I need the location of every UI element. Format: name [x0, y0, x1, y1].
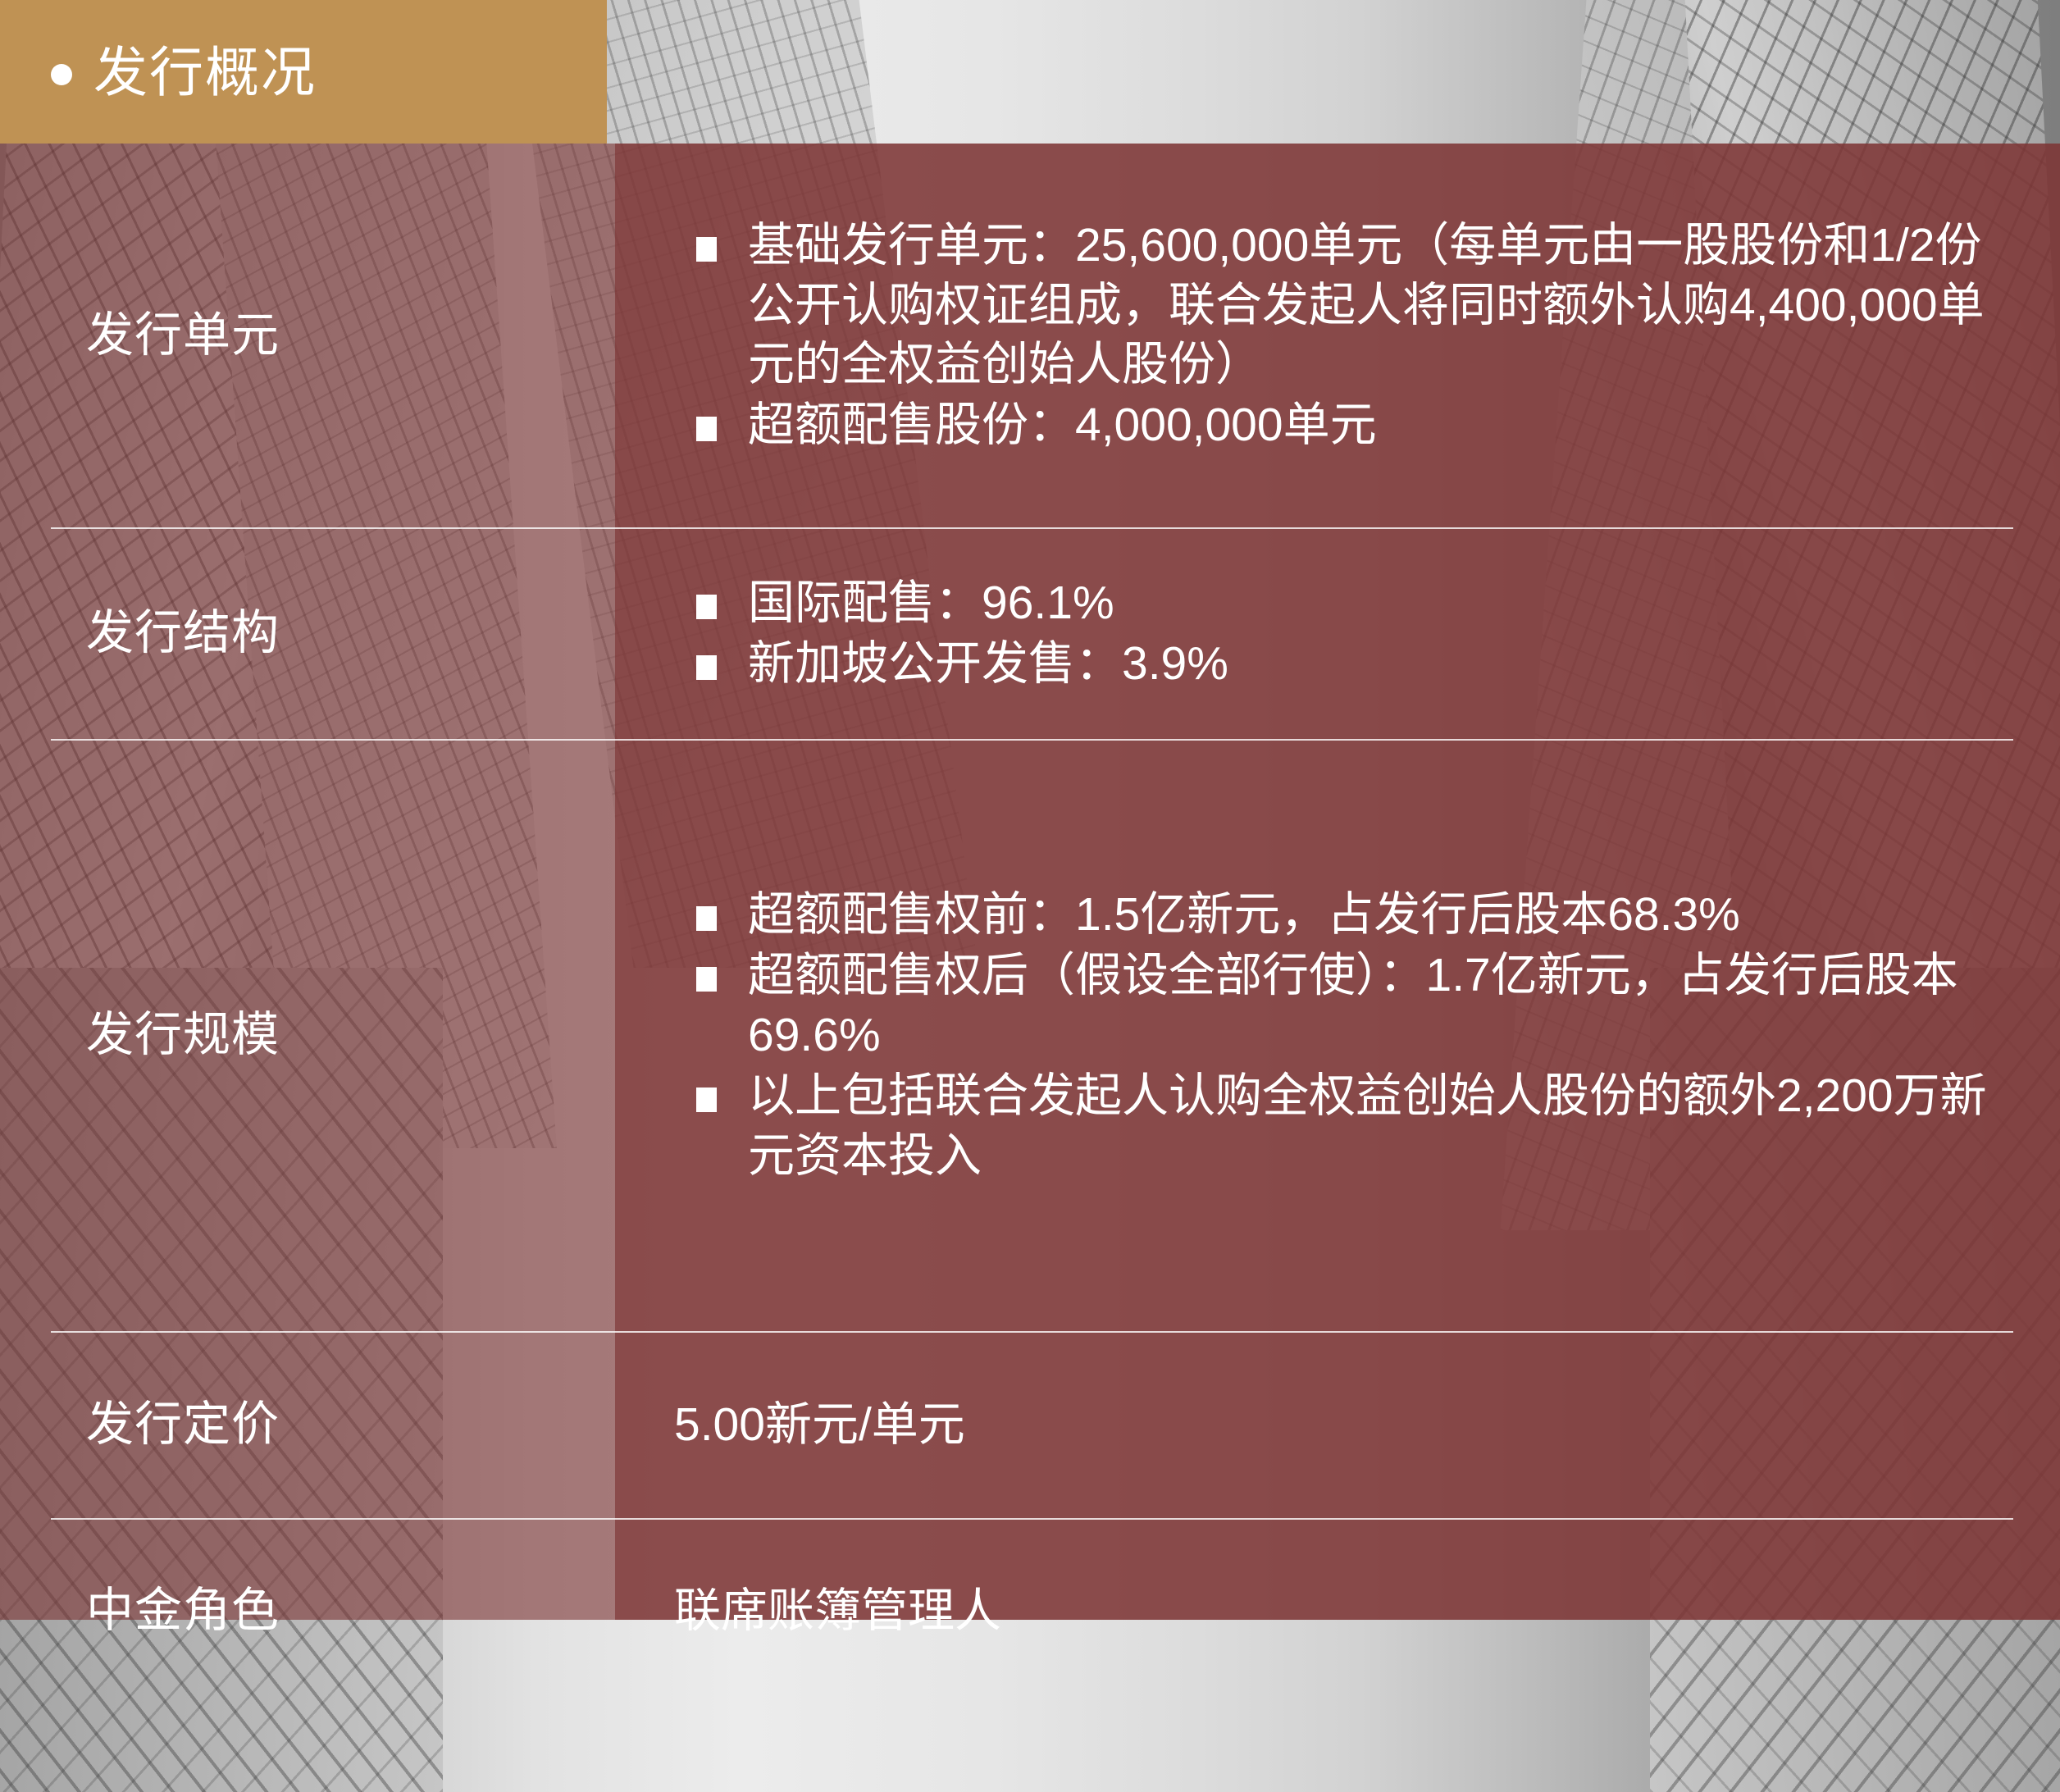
square-bullet-icon — [696, 906, 717, 931]
list-item-text: 以上包括联合发起人认购全权益创始人股份的额外2,200万新元资本投入 — [748, 1069, 1987, 1181]
square-bullet-icon — [696, 417, 717, 441]
row-label: 中金角色 — [0, 1584, 615, 1639]
table-row: 发行规模 超额配售权前：1.5亿新元，占发行后股本68.3% 超额配售权后（假设… — [0, 739, 2060, 1331]
row-label: 发行单元 — [0, 308, 615, 363]
row-value: 基础发行单元：25,600,000单元（每单元由一股股份和1/2份公开认购权证组… — [615, 216, 2060, 455]
square-bullet-icon — [696, 595, 717, 619]
table-row: 发行定价 5.00新元/单元 — [0, 1331, 2060, 1518]
slide-title-bar: 发行概况 — [0, 0, 607, 144]
square-bullet-icon — [696, 1088, 717, 1112]
row-value: 国际配售：96.1% 新加坡公开发售：3.9% — [615, 573, 2060, 694]
list-item: 基础发行单元：25,600,000单元（每单元由一股股份和1/2份公开认购权证组… — [674, 216, 2003, 394]
row-divider — [51, 1331, 2013, 1333]
table-row: 发行单元 基础发行单元：25,600,000单元（每单元由一股股份和1/2份公开… — [0, 144, 2060, 527]
page-title: 发行概况 — [93, 45, 317, 99]
list-item-text: 超额配售股份：4,000,000单元 — [748, 399, 1377, 451]
square-bullet-icon — [696, 237, 717, 262]
bullet-list: 超额配售权前：1.5亿新元，占发行后股本68.3% 超额配售权后（假设全部行使）… — [674, 885, 2003, 1185]
list-item: 国际配售：96.1% — [674, 573, 2003, 632]
row-value-text: 联席账簿管理人 — [674, 1581, 2003, 1640]
bullet-list: 国际配售：96.1% 新加坡公开发售：3.9% — [674, 573, 2003, 694]
bullet-list: 基础发行单元：25,600,000单元（每单元由一股股份和1/2份公开认购权证组… — [674, 216, 2003, 455]
row-value: 联席账簿管理人 — [615, 1581, 2060, 1640]
row-divider — [51, 527, 2013, 529]
overview-table: 发行单元 基础发行单元：25,600,000单元（每单元由一股股份和1/2份公开… — [0, 144, 2060, 1703]
row-divider — [51, 1518, 2013, 1520]
table-row: 中金角色 联席账簿管理人 — [0, 1518, 2060, 1703]
list-item-text: 超额配售权前：1.5亿新元，占发行后股本68.3% — [748, 888, 1740, 941]
square-bullet-icon — [696, 967, 717, 992]
list-item: 以上包括联合发起人认购全权益创始人股份的额外2,200万新元资本投入 — [674, 1066, 2003, 1185]
slide-canvas: 发行概况 发行单元 基础发行单元：25,600,000单元（每单元由一股股份和1… — [0, 0, 2060, 1792]
list-item-text: 基础发行单元：25,600,000单元（每单元由一股股份和1/2份公开认购权证组… — [748, 219, 1985, 390]
row-value: 5.00新元/单元 — [615, 1395, 2060, 1454]
list-item: 超额配售股份：4,000,000单元 — [674, 395, 2003, 454]
list-item-text: 国际配售：96.1% — [748, 577, 1114, 629]
row-value-text: 5.00新元/单元 — [674, 1395, 2003, 1454]
row-value: 超额配售权前：1.5亿新元，占发行后股本68.3% 超额配售权后（假设全部行使）… — [615, 885, 2060, 1185]
list-item: 超额配售权后（假设全部行使）：1.7亿新元，占发行后股本69.6% — [674, 946, 2003, 1065]
row-label: 发行结构 — [0, 606, 615, 661]
row-divider — [51, 739, 2013, 741]
list-item: 新加坡公开发售：3.9% — [674, 634, 2003, 693]
square-bullet-icon — [696, 655, 717, 680]
list-item: 超额配售权前：1.5亿新元，占发行后股本68.3% — [674, 885, 2003, 944]
row-label: 发行规模 — [0, 1008, 615, 1063]
table-row: 发行结构 国际配售：96.1% 新加坡公开发售：3.9% — [0, 527, 2060, 739]
list-item-text: 超额配售权后（假设全部行使）：1.7亿新元，占发行后股本69.6% — [748, 949, 1958, 1060]
dot-bullet-icon — [51, 64, 72, 85]
row-label: 发行定价 — [0, 1398, 615, 1452]
list-item-text: 新加坡公开发售：3.9% — [748, 637, 1228, 690]
